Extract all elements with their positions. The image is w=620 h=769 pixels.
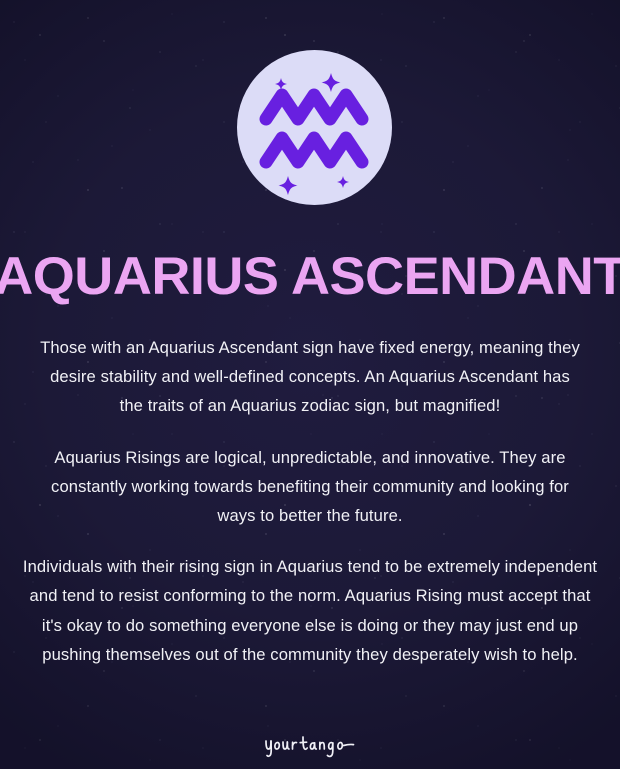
body-paragraph-3: Individuals with their rising sign in Aq… [21, 552, 599, 669]
aquarius-badge [237, 50, 392, 205]
brand-logo [0, 733, 620, 764]
zodiac-infographic-card: AQUARIUS ASCENDANT Those with an Aquariu… [0, 0, 620, 769]
sparkle-icon [337, 176, 349, 188]
yourtango-wordmark-icon [262, 733, 358, 759]
sparkle-icon [279, 176, 298, 195]
body-paragraph-1: Those with an Aquarius Ascendant sign ha… [40, 333, 580, 421]
aquarius-zodiac-symbol-icon [237, 50, 392, 205]
sparkle-icon [275, 78, 287, 90]
page-title: AQUARIUS ASCENDANT [0, 249, 620, 305]
body-paragraph-2: Aquarius Risings are logical, unpredicta… [40, 443, 580, 531]
sparkle-icon [322, 73, 341, 92]
body-text-block: Those with an Aquarius Ascendant sign ha… [0, 333, 620, 669]
